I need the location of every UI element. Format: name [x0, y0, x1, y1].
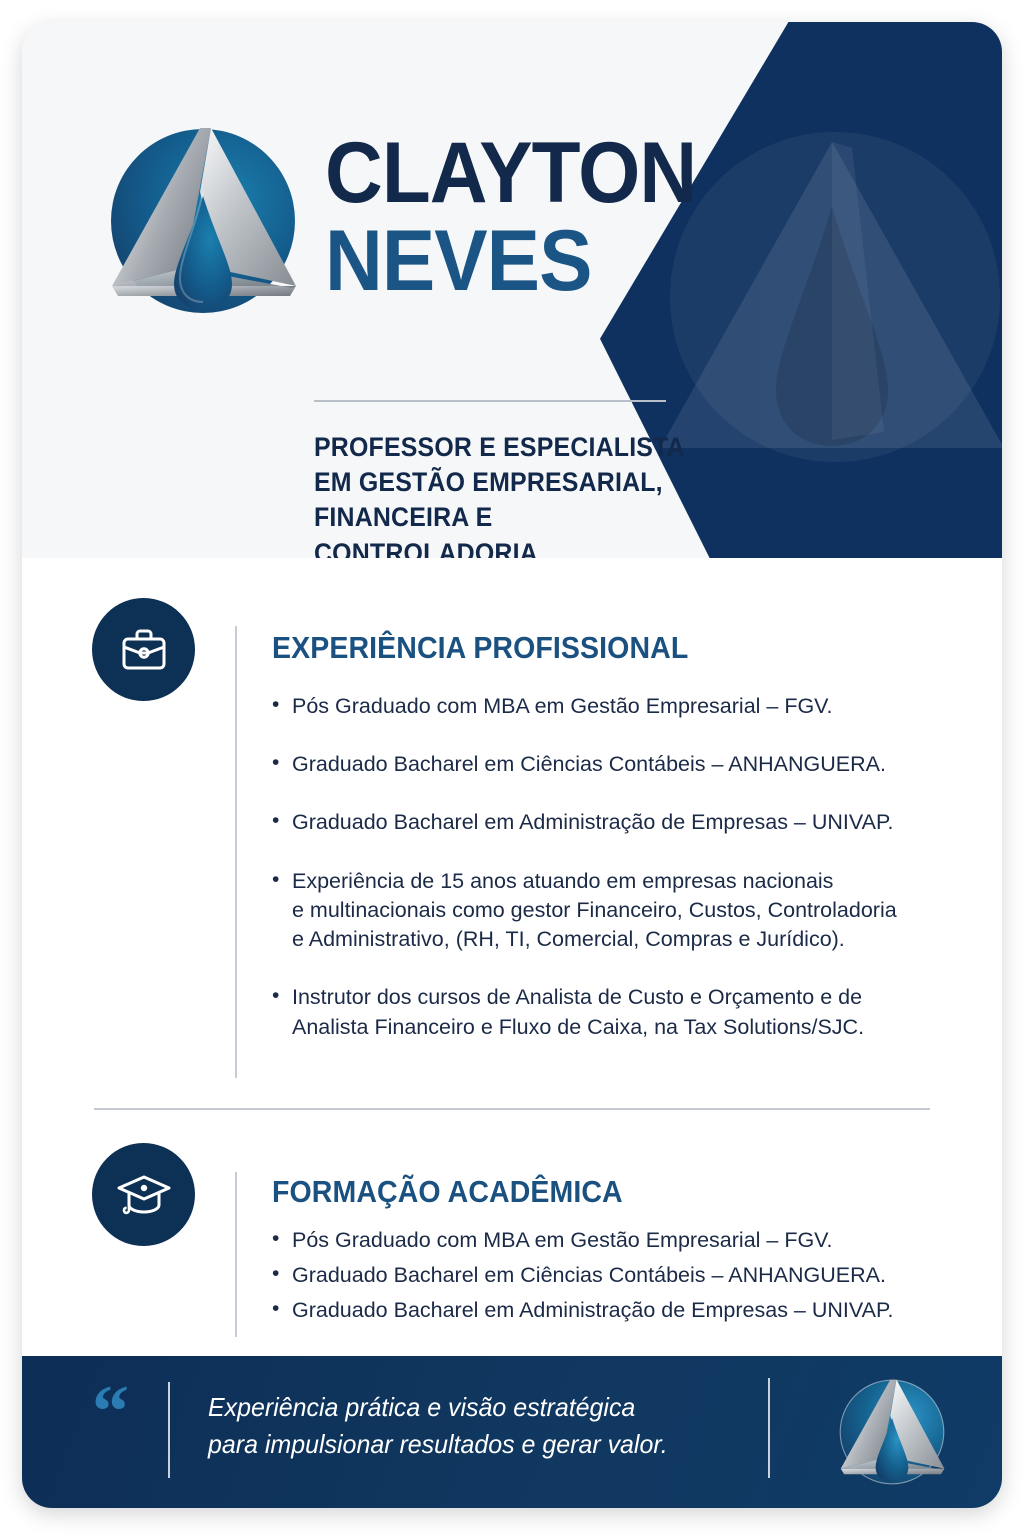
role-line-2: EM GESTÃO EMPRESARIAL,: [314, 465, 718, 500]
graduation-cap-badge: [92, 1143, 195, 1246]
list-item-line: e multinacionais como gestor Financeiro,…: [292, 896, 950, 925]
list-item: Graduado Bacharel em Ciências Contábeis …: [270, 750, 950, 779]
footer-brand-logo-icon: [834, 1374, 950, 1490]
list-item-line: Instrutor dos cursos de Analista de Cust…: [292, 983, 950, 1012]
quote-mark-icon: “: [92, 1387, 129, 1439]
experiencia-title: EXPERIÊNCIA PROFISSIONAL: [272, 630, 688, 666]
profile-card: CLAYTON NEVES PROFESSOR E ESPECIALISTA E…: [22, 22, 1002, 1508]
list-item-line: Graduado Bacharel em Ciências Contábeis …: [292, 1261, 950, 1290]
list-item: Pós Graduado com MBA em Gestão Empresari…: [270, 1226, 950, 1255]
role-subtitle: PROFESSOR E ESPECIALISTA EM GESTÃO EMPRE…: [314, 430, 744, 558]
quote-divider: [168, 1382, 170, 1478]
role-line-1: PROFESSOR E ESPECIALISTA: [314, 430, 718, 465]
name-divider: [314, 400, 666, 402]
quote-line-1: Experiência prática e visão estratégica: [208, 1389, 688, 1426]
formacao-title: FORMAÇÃO ACADÊMICA: [272, 1174, 623, 1210]
list-item-line: Graduado Bacharel em Ciências Contábeis …: [292, 750, 950, 779]
formacao-accent-line: [235, 1172, 237, 1337]
card-footer: “ Experiência prática e visão estratégic…: [22, 1356, 1002, 1508]
footer-quote: Experiência prática e visão estratégica …: [208, 1389, 708, 1463]
list-item-line: Graduado Bacharel em Administração de Em…: [292, 808, 950, 837]
list-item-line: e Administrativo, (RH, TI, Comercial, Co…: [292, 925, 950, 954]
list-item-line: Graduado Bacharel em Administração de Em…: [292, 1296, 950, 1325]
name-last: NEVES: [325, 218, 697, 304]
section-divider: [94, 1108, 930, 1110]
list-item-line: Pós Graduado com MBA em Gestão Empresari…: [292, 1226, 950, 1255]
formacao-list: Pós Graduado com MBA em Gestão Empresari…: [270, 1226, 950, 1332]
experiencia-accent-line: [235, 626, 237, 1078]
graduation-cap-icon: [115, 1166, 173, 1224]
footer-divider: [768, 1378, 770, 1478]
list-item: Graduado Bacharel em Ciências Contábeis …: [270, 1261, 950, 1290]
role-line-3: FINANCEIRA E CONTROLADORIA: [314, 500, 718, 558]
quote-line-2: para impulsionar resultados e gerar valo…: [208, 1426, 688, 1463]
experiencia-list: Pós Graduado com MBA em Gestão Empresari…: [270, 692, 950, 1071]
list-item: Graduado Bacharel em Administração de Em…: [270, 808, 950, 837]
briefcase-badge: [92, 598, 195, 701]
list-item: Pós Graduado com MBA em Gestão Empresari…: [270, 692, 950, 721]
name-block: CLAYTON NEVES: [325, 134, 725, 304]
name-first: CLAYTON: [325, 134, 697, 214]
list-item: Instrutor dos cursos de Analista de Cust…: [270, 983, 950, 1041]
list-item-line: Analista Financeiro e Fluxo de Caixa, na…: [292, 1013, 950, 1042]
card-header: CLAYTON NEVES PROFESSOR E ESPECIALISTA E…: [22, 22, 1002, 558]
brand-logo-icon: [100, 118, 306, 324]
list-item: Graduado Bacharel em Administração de Em…: [270, 1296, 950, 1325]
list-item-line: Pós Graduado com MBA em Gestão Empresari…: [292, 692, 950, 721]
briefcase-icon: [116, 622, 172, 678]
list-item: Experiência de 15 anos atuando em empres…: [270, 867, 950, 955]
list-item-line: Experiência de 15 anos atuando em empres…: [292, 867, 950, 896]
